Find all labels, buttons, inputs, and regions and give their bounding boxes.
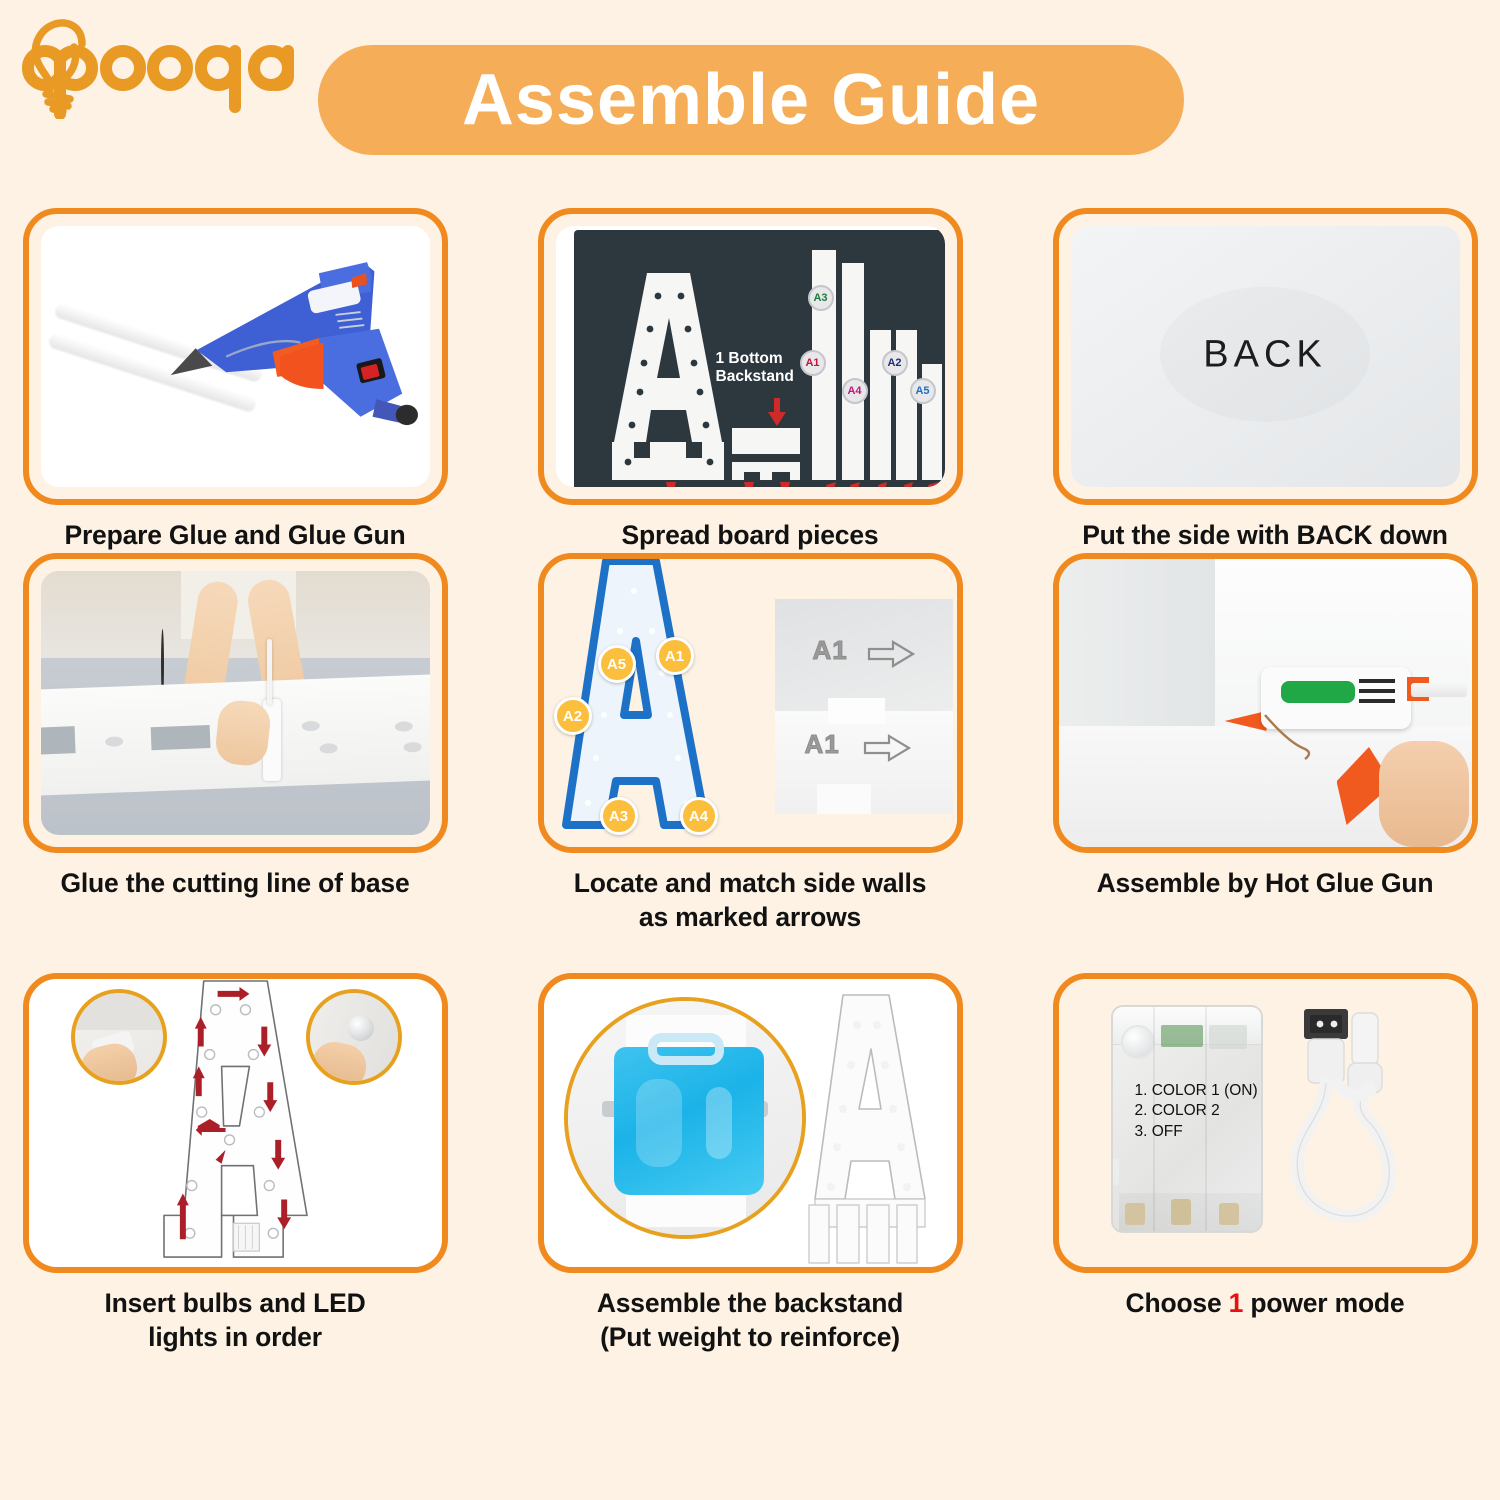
lightbulb-logo-icon xyxy=(22,14,302,119)
hand-gripping-gun xyxy=(1379,741,1469,847)
step-5-caption-line1: Locate and match side walls xyxy=(574,867,926,901)
step-card-6: Assemble by Hot Glue Gun xyxy=(1053,553,1478,973)
side-wall-arrow-photo: A1 A1 xyxy=(775,599,953,814)
glue-gun-brand-label xyxy=(1281,681,1355,703)
step-3-panel: BACK xyxy=(1053,208,1478,505)
step-1-panel xyxy=(23,208,448,505)
wall-badge-a3: A3 xyxy=(808,285,834,311)
bulb-insert-closeup-left xyxy=(71,989,167,1085)
back-board-photo: BACK xyxy=(1071,226,1460,487)
step-card-8: Assemble the backstand (Put weight to re… xyxy=(538,973,963,1393)
step-card-3: BACK Put the side with BACK down xyxy=(1053,208,1478,553)
letter-badge-a4: A4 xyxy=(680,797,718,835)
guide-title-banner: Assemble Guide xyxy=(318,45,1184,155)
step-8-caption-line1: Assemble the backstand xyxy=(597,1287,903,1321)
insert-bulbs-photo xyxy=(29,979,442,1267)
hand-holding-gun xyxy=(213,698,271,767)
step-7-caption-line1: Insert bulbs and LED xyxy=(104,1287,365,1321)
step-5-caption: Locate and match side walls as marked ar… xyxy=(574,867,926,935)
step-6-panel xyxy=(1053,553,1478,853)
glue-gun-photo xyxy=(41,226,430,487)
wall-badge-a4: A4 xyxy=(842,378,868,404)
step-1-caption: Prepare Glue and Glue Gun xyxy=(64,519,405,553)
power-mode-1: 1. COLOR 1 (ON) xyxy=(1135,1081,1258,1101)
step-card-2: A3 A1 A2 A4 A5 1 BottomBackstand Base Bo… xyxy=(538,208,963,553)
step-3-caption: Put the side with BACK down xyxy=(1082,519,1448,553)
step-8-panel xyxy=(538,973,963,1273)
right-arrow-icon-top xyxy=(867,639,917,669)
step-8-caption: Assemble the backstand (Put weight to re… xyxy=(597,1287,903,1355)
power-mode-3: 3. OFF xyxy=(1135,1122,1258,1142)
glue-gun-illustration xyxy=(41,226,430,487)
wall-badge-a2: A2 xyxy=(882,350,908,376)
bulb-insert-closeup-right xyxy=(306,989,402,1085)
power-mode-2: 2. COLOR 2 xyxy=(1135,1101,1258,1121)
step-card-9: 1. COLOR 1 (ON) 2. COLOR 2 3. OFF xyxy=(1053,973,1478,1393)
step-2-caption: Spread board pieces xyxy=(622,519,879,553)
glue-stick xyxy=(267,639,272,705)
step-2-panel: A3 A1 A2 A4 A5 1 BottomBackstand Base Bo… xyxy=(538,208,963,505)
circuit-board xyxy=(1161,1025,1203,1047)
letter-badge-a3: A3 xyxy=(600,797,638,835)
step-4-caption: Glue the cutting line of base xyxy=(60,867,409,901)
step-card-5: A5 A1 A2 A3 A4 A1 A1 xyxy=(538,553,963,973)
water-bag-weight xyxy=(614,1047,764,1195)
letter-badge-a2: A2 xyxy=(554,697,592,735)
step-6-caption: Assemble by Hot Glue Gun xyxy=(1097,867,1434,901)
power-switch-knob xyxy=(1121,1025,1155,1059)
page-title: Assemble Guide xyxy=(462,64,1040,136)
letter-badge-a5: A5 xyxy=(598,645,636,683)
step-9-panel: 1. COLOR 1 (ON) 2. COLOR 2 3. OFF xyxy=(1053,973,1478,1273)
board-pieces-diagram: A3 A1 A2 A4 A5 1 BottomBackstand Base Bo… xyxy=(574,230,945,487)
step-5-caption-line2: as marked arrows xyxy=(574,901,926,935)
step-card-1: Prepare Glue and Glue Gun xyxy=(23,208,448,553)
step-7-caption-line2: lights in order xyxy=(104,1321,365,1355)
led-battery-pack xyxy=(233,1223,259,1251)
power-mode-list: 1. COLOR 1 (ON) 2. COLOR 2 3. OFF xyxy=(1135,1081,1258,1142)
glue-base-photo xyxy=(41,571,430,835)
step-8-caption-line2: (Put weight to reinforce) xyxy=(597,1321,903,1355)
wall-badge-a5: A5 xyxy=(910,378,936,404)
step-9-caption-prefix: Choose xyxy=(1126,1288,1229,1318)
usb-cable xyxy=(1276,1001,1456,1267)
assemble-guide-page: Assemble Guide xyxy=(0,0,1500,1500)
step-5-panel: A5 A1 A2 A3 A4 A1 A1 xyxy=(538,553,963,853)
step-9-caption-suffix: power mode xyxy=(1243,1288,1404,1318)
bottom-backstand-label: 1 BottomBackstand xyxy=(716,350,794,386)
glue-stick-loaded xyxy=(1411,683,1467,697)
arrow-label-a1-bottom: A1 xyxy=(805,729,840,760)
board-pieces-photo: A3 A1 A2 A4 A5 1 BottomBackstand Base Bo… xyxy=(556,226,945,487)
side-wall-match-photo: A5 A1 A2 A3 A4 A1 A1 xyxy=(544,559,957,847)
gun-wire-stand-icon xyxy=(1259,709,1319,769)
step-4-panel xyxy=(23,553,448,853)
wall-badge-a1: A1 xyxy=(800,350,826,376)
arrow-label-a1-top: A1 xyxy=(813,635,848,666)
letter-badge-a1: A1 xyxy=(656,637,694,675)
hot-glue-gun-photo xyxy=(1059,559,1472,847)
right-arrow-icon-bottom xyxy=(863,733,913,763)
step-card-7: Insert bulbs and LED lights in order xyxy=(23,973,448,1393)
back-marking-text: BACK xyxy=(1203,333,1326,376)
steps-grid: Prepare Glue and Glue Gun xyxy=(0,208,1500,1500)
vent-slots xyxy=(1359,677,1401,713)
page-header: Assemble Guide xyxy=(0,0,1500,200)
backstand-closeup-circle xyxy=(564,997,806,1239)
power-mode-photo: 1. COLOR 1 (ON) 2. COLOR 2 3. OFF xyxy=(1059,979,1472,1267)
step-card-4: Glue the cutting line of base xyxy=(23,553,448,973)
step-7-panel xyxy=(23,973,448,1273)
backstand-photo xyxy=(544,979,957,1267)
assembled-letter-a xyxy=(785,991,955,1267)
step-9-caption: Choose 1 power mode xyxy=(1126,1287,1405,1321)
brand-logo xyxy=(22,14,302,119)
step-7-caption: Insert bulbs and LED lights in order xyxy=(104,1287,365,1355)
workspace-scene xyxy=(41,571,430,835)
step-9-caption-highlight: 1 xyxy=(1229,1288,1244,1318)
